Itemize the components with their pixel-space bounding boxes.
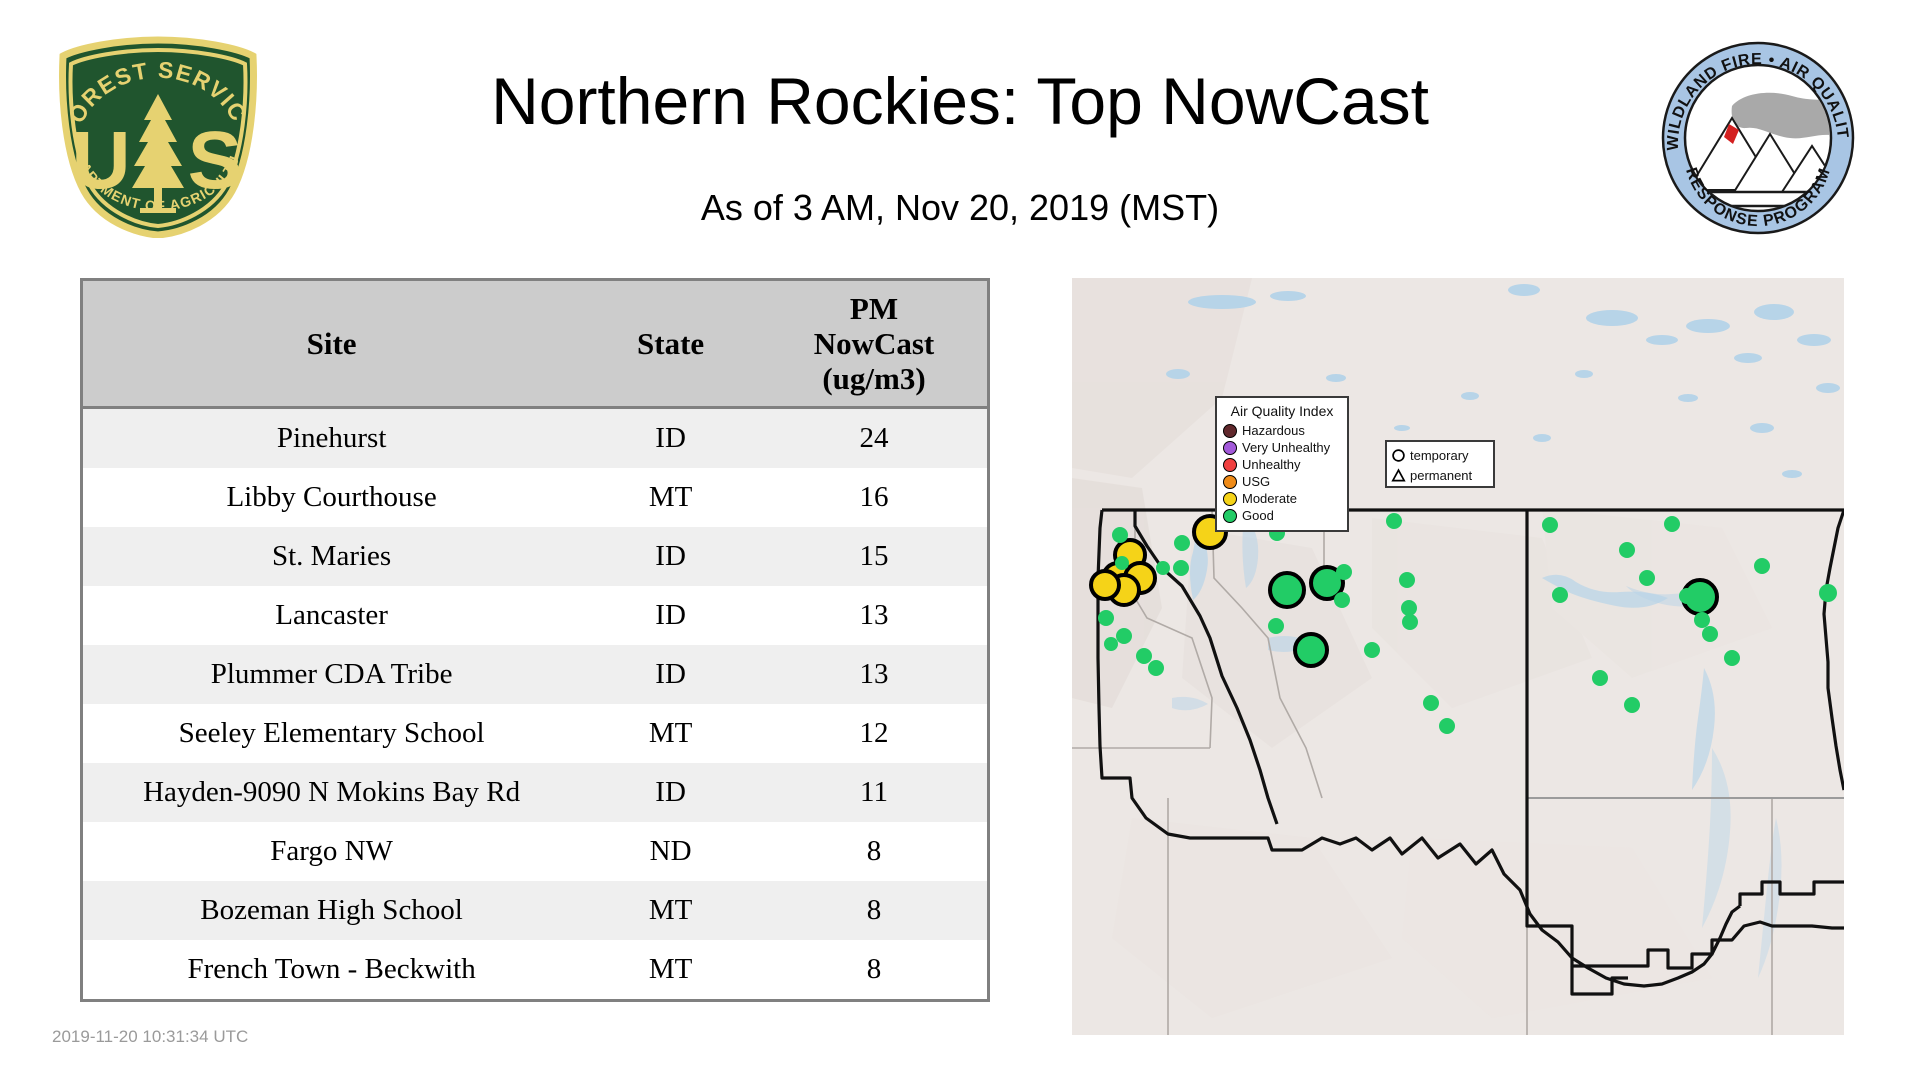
- aqi-legend-label: Moderate: [1242, 491, 1297, 506]
- monitor-marker[interactable]: [1156, 561, 1170, 575]
- page-subtitle: As of 3 AM, Nov 20, 2019 (MST): [260, 186, 1660, 230]
- monitor-marker[interactable]: [1619, 542, 1635, 558]
- table-row: Seeley Elementary SchoolMT12: [83, 704, 987, 763]
- cell-state: MT: [580, 468, 761, 527]
- usfs-logo: FOREST SERVICE DEPARTMENT OF AGRICULTURE…: [52, 36, 264, 238]
- monitor-marker[interactable]: [1702, 626, 1718, 642]
- slide-canvas: FOREST SERVICE DEPARTMENT OF AGRICULTURE…: [0, 0, 1920, 1080]
- cell-value: 12: [761, 704, 987, 763]
- aqi-legend-item: Hazardous: [1223, 422, 1341, 439]
- cell-value: 8: [761, 822, 987, 881]
- monitor-marker[interactable]: [1116, 628, 1132, 644]
- aqi-legend-label: Good: [1242, 508, 1274, 523]
- air-quality-map[interactable]: [1072, 278, 1844, 1035]
- cell-value: 13: [761, 586, 987, 645]
- cell-site: French Town - Beckwith: [83, 940, 580, 999]
- monitor-marker[interactable]: [1592, 670, 1608, 686]
- column-header-line-3: (ug/m3): [765, 361, 983, 396]
- nowcast-table-container: Site State PM NowCast (ug/m3) PinehurstI…: [80, 278, 990, 1002]
- table-row: Plummer CDA TribeID13: [83, 645, 987, 704]
- aqi-swatch-icon: [1223, 509, 1237, 523]
- generated-timestamp: 2019-11-20 10:31:34 UTC: [52, 1027, 248, 1047]
- monitor-marker[interactable]: [1270, 573, 1304, 607]
- aqi-legend-title: Air Quality Index: [1223, 403, 1341, 419]
- monitor-marker[interactable]: [1104, 637, 1118, 651]
- cell-state: ND: [580, 822, 761, 881]
- cell-site: Libby Courthouse: [83, 468, 580, 527]
- monitor-marker[interactable]: [1679, 588, 1695, 604]
- monitor-marker[interactable]: [1112, 527, 1128, 543]
- monitor-marker[interactable]: [1115, 556, 1129, 570]
- aqi-legend-rows: HazardousVery UnhealthyUnhealthyUSGModer…: [1223, 422, 1341, 524]
- cell-site: Pinehurst: [83, 408, 580, 469]
- monitor-marker[interactable]: [1336, 564, 1352, 580]
- monitor-marker[interactable]: [1754, 558, 1770, 574]
- cell-site: Seeley Elementary School: [83, 704, 580, 763]
- aqi-legend: Air Quality Index HazardousVery Unhealth…: [1215, 396, 1349, 532]
- table-row: Fargo NWND8: [83, 822, 987, 881]
- monitor-marker[interactable]: [1402, 614, 1418, 630]
- cell-value: 8: [761, 940, 987, 999]
- cell-site: Bozeman High School: [83, 881, 580, 940]
- monitor-marker[interactable]: [1173, 560, 1189, 576]
- monitor-marker[interactable]: [1268, 618, 1284, 634]
- temporary-circle-icon: [1391, 448, 1406, 463]
- monitor-marker[interactable]: [1724, 650, 1740, 666]
- aqi-legend-label: Very Unhealthy: [1242, 440, 1330, 455]
- monitor-marker[interactable]: [1148, 660, 1164, 676]
- cell-site: Fargo NW: [83, 822, 580, 881]
- aqi-swatch-icon: [1223, 441, 1237, 455]
- monitor-marker[interactable]: [1364, 642, 1380, 658]
- column-header-line-1: PM: [765, 291, 983, 326]
- aqi-legend-item: Very Unhealthy: [1223, 439, 1341, 456]
- column-header-line-2: NowCast: [765, 326, 983, 361]
- monitor-marker[interactable]: [1401, 600, 1417, 616]
- site-type-label-temporary: temporary: [1410, 448, 1469, 463]
- cell-state: MT: [580, 881, 761, 940]
- column-header-state: State: [580, 281, 761, 408]
- aqi-legend-item: Moderate: [1223, 490, 1341, 507]
- cell-state: MT: [580, 940, 761, 999]
- monitor-marker[interactable]: [1098, 610, 1114, 626]
- cell-state: MT: [580, 704, 761, 763]
- aqi-swatch-icon: [1223, 424, 1237, 438]
- table-row: Bozeman High SchoolMT8: [83, 881, 987, 940]
- cell-state: ID: [580, 586, 761, 645]
- aqi-legend-item: Good: [1223, 507, 1341, 524]
- monitor-marker[interactable]: [1136, 648, 1152, 664]
- cell-state: ID: [580, 645, 761, 704]
- monitor-marker[interactable]: [1552, 587, 1568, 603]
- table-row: Libby CourthouseMT16: [83, 468, 987, 527]
- table-header: Site State PM NowCast (ug/m3): [83, 281, 987, 408]
- monitor-marker[interactable]: [1624, 697, 1640, 713]
- table-row: LancasterID13: [83, 586, 987, 645]
- cell-site: Hayden-9090 N Mokins Bay Rd: [83, 763, 580, 822]
- aqi-legend-label: Unhealthy: [1242, 457, 1301, 472]
- cell-site: Plummer CDA Tribe: [83, 645, 580, 704]
- monitor-marker[interactable]: [1639, 570, 1655, 586]
- monitor-marker[interactable]: [1423, 695, 1439, 711]
- aqi-swatch-icon: [1223, 492, 1237, 506]
- monitor-marker[interactable]: [1399, 572, 1415, 588]
- cell-value: 13: [761, 645, 987, 704]
- cell-value: 11: [761, 763, 987, 822]
- cell-value: 16: [761, 468, 987, 527]
- monitor-marker[interactable]: [1386, 513, 1402, 529]
- permanent-triangle-icon: [1391, 468, 1406, 483]
- cell-state: ID: [580, 763, 761, 822]
- site-type-label-permanent: permanent: [1410, 468, 1472, 483]
- nowcast-table: Site State PM NowCast (ug/m3) PinehurstI…: [83, 281, 987, 999]
- column-header-pm-nowcast: PM NowCast (ug/m3): [761, 281, 987, 408]
- cell-site: Lancaster: [83, 586, 580, 645]
- table-row: St. MariesID15: [83, 527, 987, 586]
- table-row: Hayden-9090 N Mokins Bay RdID11: [83, 763, 987, 822]
- wfaqrp-logo: WILDLAND FIRE • AIR QUALITY RESPONSE PRO…: [1660, 40, 1856, 236]
- site-type-row-temporary: temporary: [1391, 445, 1489, 465]
- site-type-row-permanent: permanent: [1391, 465, 1489, 485]
- table-body: PinehurstID24Libby CourthouseMT16St. Mar…: [83, 408, 987, 1000]
- monitor-marker[interactable]: [1334, 592, 1350, 608]
- aqi-swatch-icon: [1223, 475, 1237, 489]
- aqi-swatch-icon: [1223, 458, 1237, 472]
- cell-site: St. Maries: [83, 527, 580, 586]
- monitor-marker[interactable]: [1542, 517, 1558, 533]
- cell-state: ID: [580, 527, 761, 586]
- monitor-marker[interactable]: [1174, 535, 1190, 551]
- monitor-marker[interactable]: [1694, 612, 1710, 628]
- table-row: French Town - BeckwithMT8: [83, 940, 987, 999]
- monitor-marker[interactable]: [1295, 634, 1327, 666]
- table-header-row: Site State PM NowCast (ug/m3): [83, 281, 987, 408]
- cell-value: 24: [761, 408, 987, 469]
- aqi-legend-label: USG: [1242, 474, 1270, 489]
- cell-value: 15: [761, 527, 987, 586]
- monitor-marker[interactable]: [1091, 571, 1119, 599]
- aqi-legend-item: Unhealthy: [1223, 456, 1341, 473]
- monitor-marker[interactable]: [1439, 718, 1455, 734]
- cell-value: 8: [761, 881, 987, 940]
- column-header-site: Site: [83, 281, 580, 408]
- site-type-legend: temporary permanent: [1385, 440, 1495, 488]
- table-row: PinehurstID24: [83, 408, 987, 469]
- page-title: Northern Rockies: Top NowCast: [260, 62, 1660, 140]
- aqi-legend-label: Hazardous: [1242, 423, 1305, 438]
- usfs-letter-s: S: [188, 115, 243, 206]
- usfs-letter-u: U: [71, 115, 130, 206]
- cell-state: ID: [580, 408, 761, 469]
- monitor-marker[interactable]: [1664, 516, 1680, 532]
- monitor-marker[interactable]: [1819, 584, 1837, 602]
- aqi-legend-item: USG: [1223, 473, 1341, 490]
